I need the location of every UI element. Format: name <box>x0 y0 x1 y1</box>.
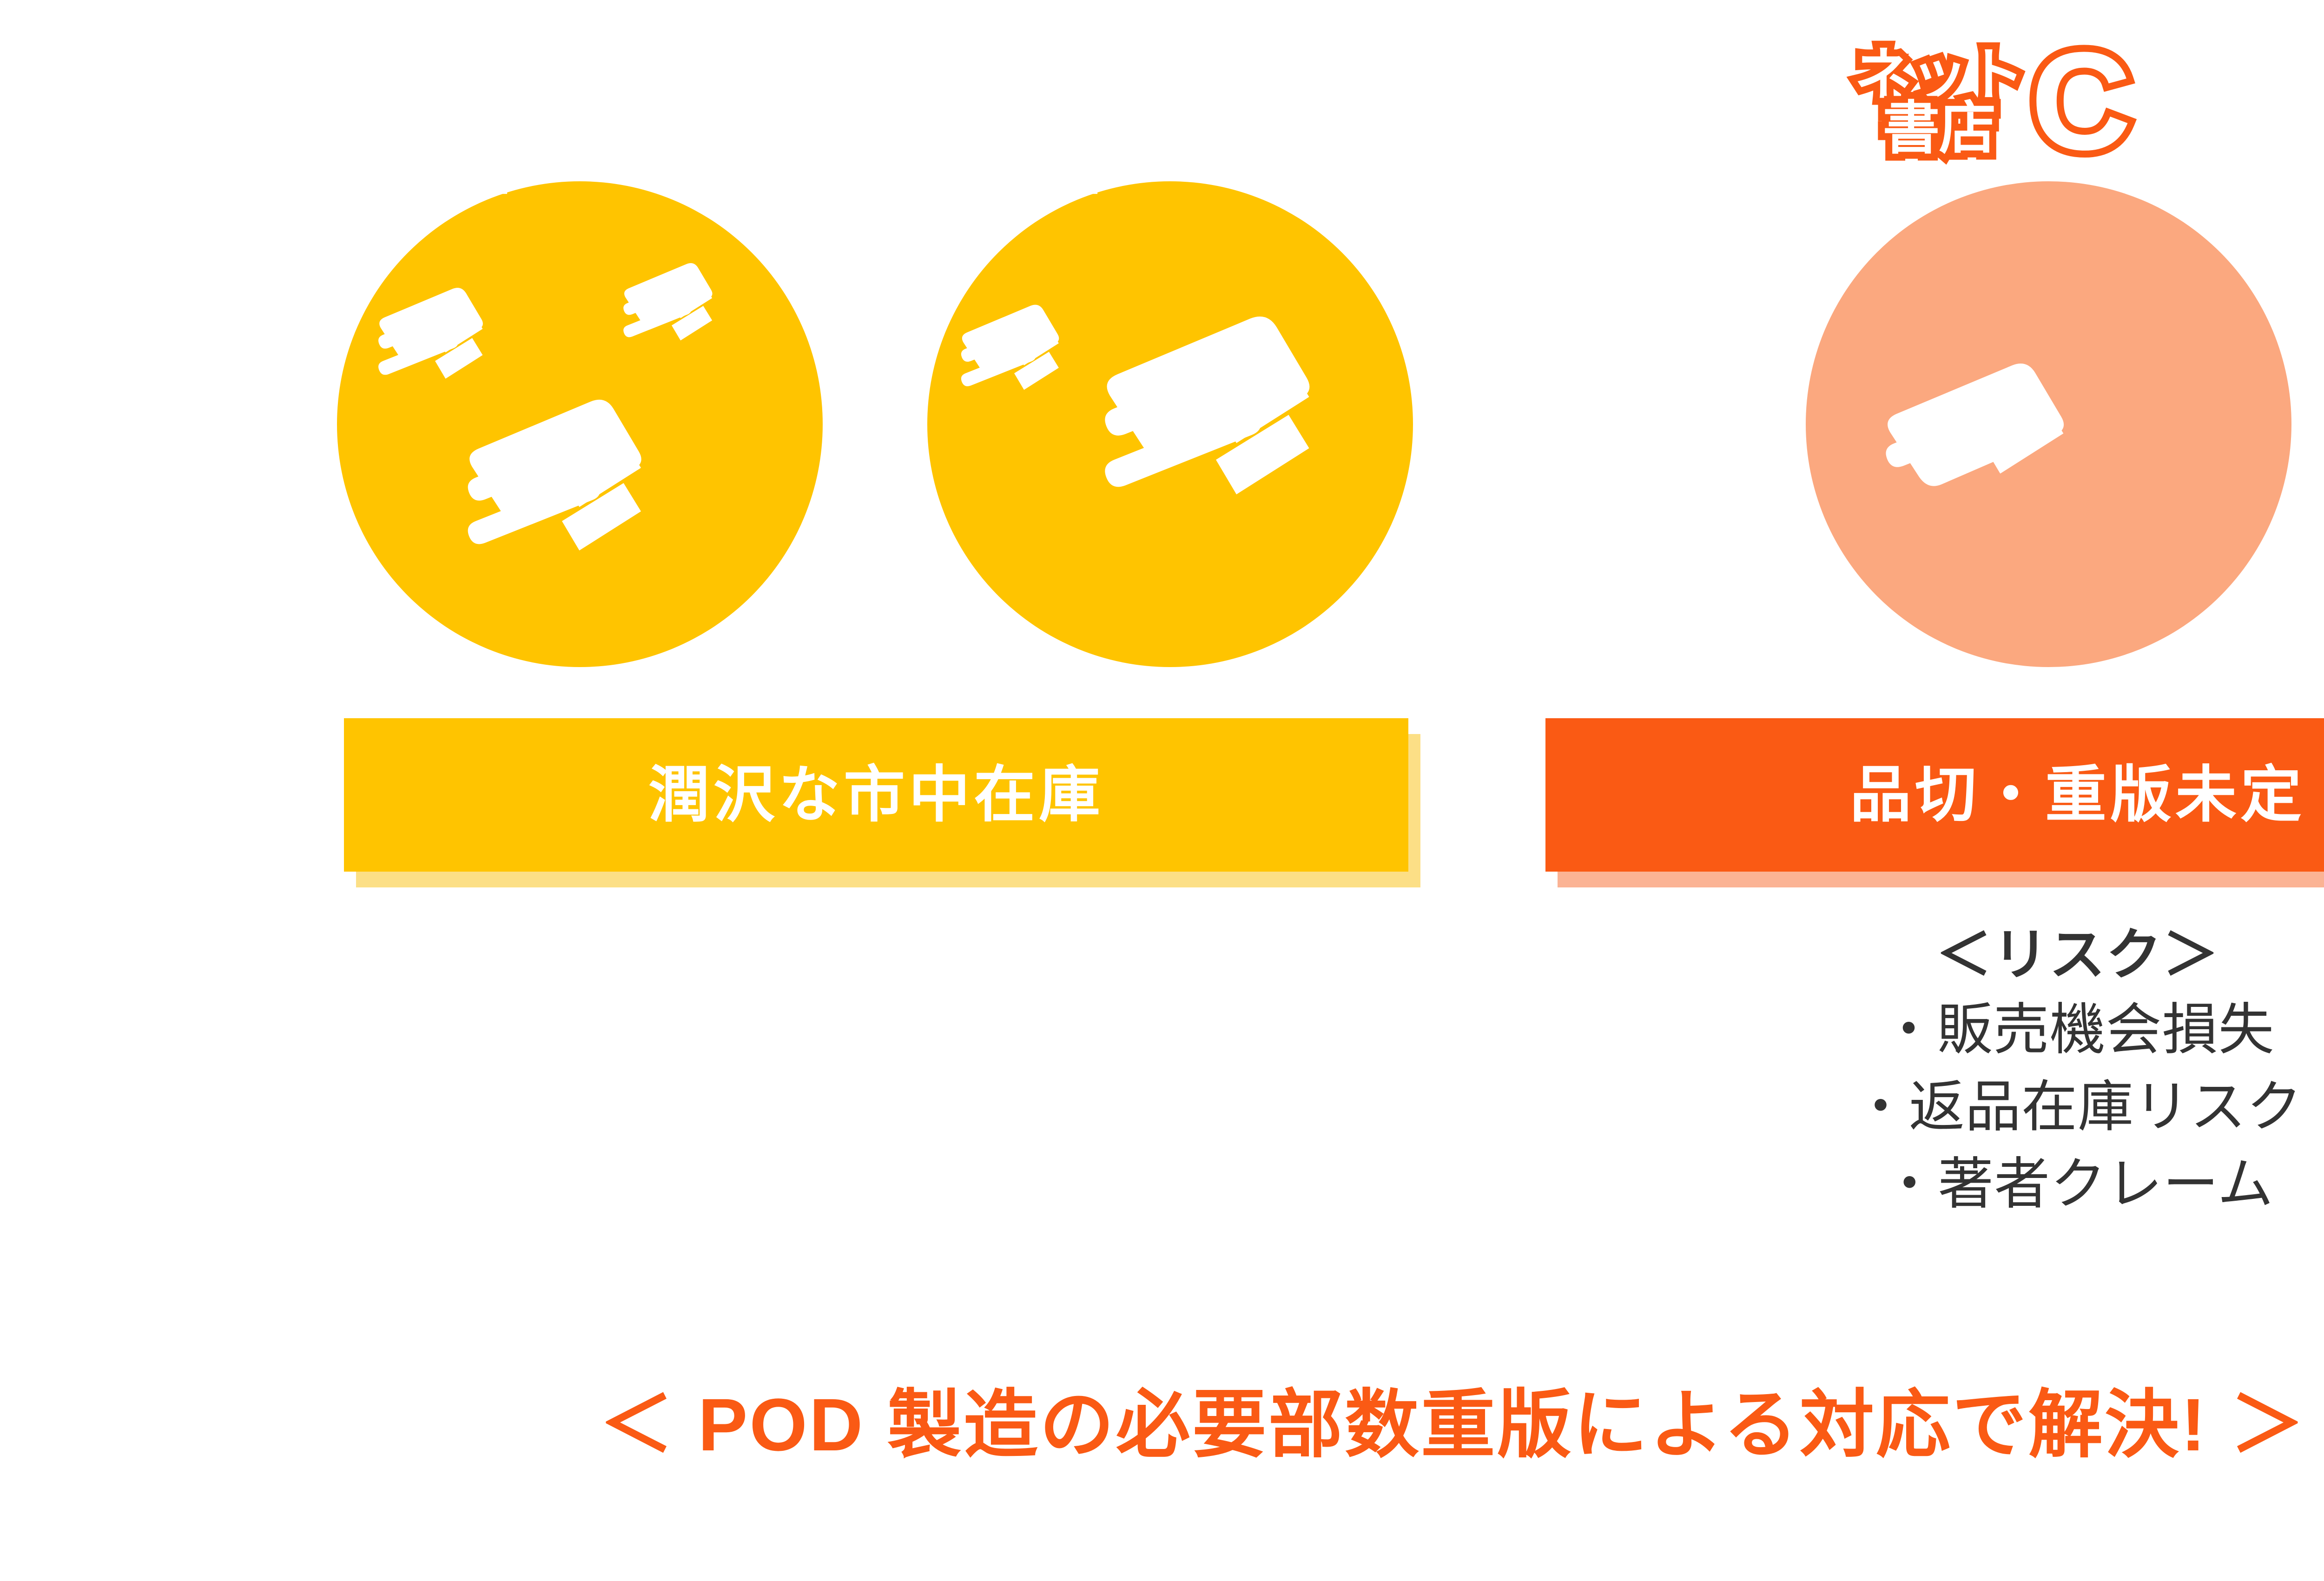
shop-tag-c: ネット 書店 C <box>1855 46 2132 155</box>
shop-tag-a: 書店A <box>372 74 598 193</box>
solution-callout: ＜ POD 製造の必要部数重版による対応で解決! ＞ <box>0 1388 2324 1462</box>
shop-tag-c-letter: C <box>2031 46 2132 155</box>
book-stacks-icon-b <box>927 181 1413 667</box>
shop-tag-b: 書店B <box>962 74 1188 193</box>
banner-ample-stock: 潤沢な市中在庫 <box>344 718 1408 872</box>
risk-item-3: ・著者クレーム <box>1545 1146 2324 1223</box>
shop-tag-b-letter: B <box>1103 67 1188 200</box>
shop-circle-a <box>337 181 823 667</box>
single-book-icon <box>1806 181 2291 667</box>
shop-tag-b-kanji: 書店 <box>962 119 1098 197</box>
banner-out-of-stock-label: 品切・重版未定 <box>1850 764 2305 826</box>
banner-ample-stock-label: 潤沢な市中在庫 <box>648 764 1104 826</box>
shop-tag-c-kanji-stack: ネット 書店 <box>1855 49 2023 155</box>
risk-item-2: ・返品在庫リスク <box>1545 1069 2324 1146</box>
banner-out-of-stock: 品切・重版未定 <box>1545 718 2324 872</box>
risk-item-1: ・販売機会損失 <box>1545 992 2324 1069</box>
shop-tag-c-line2: 書店 <box>1883 102 1995 155</box>
shop-circle-c <box>1806 181 2291 667</box>
book-stacks-icon-a <box>337 181 823 667</box>
banner-out-of-stock-body: 品切・重版未定 <box>1545 718 2324 872</box>
banner-ample-stock-body: 潤沢な市中在庫 <box>344 718 1408 872</box>
shop-tag-a-kanji: 書店 <box>372 119 508 197</box>
shop-tag-a-letter: A <box>512 67 598 200</box>
shop-tag-c-line1: ネット <box>1855 49 2023 102</box>
shop-circle-b <box>927 181 1413 667</box>
risk-title: ＜リスク＞ <box>1545 918 2324 992</box>
risk-block: ＜リスク＞ ・販売機会損失 ・返品在庫リスク ・著者クレーム <box>1545 918 2324 1223</box>
